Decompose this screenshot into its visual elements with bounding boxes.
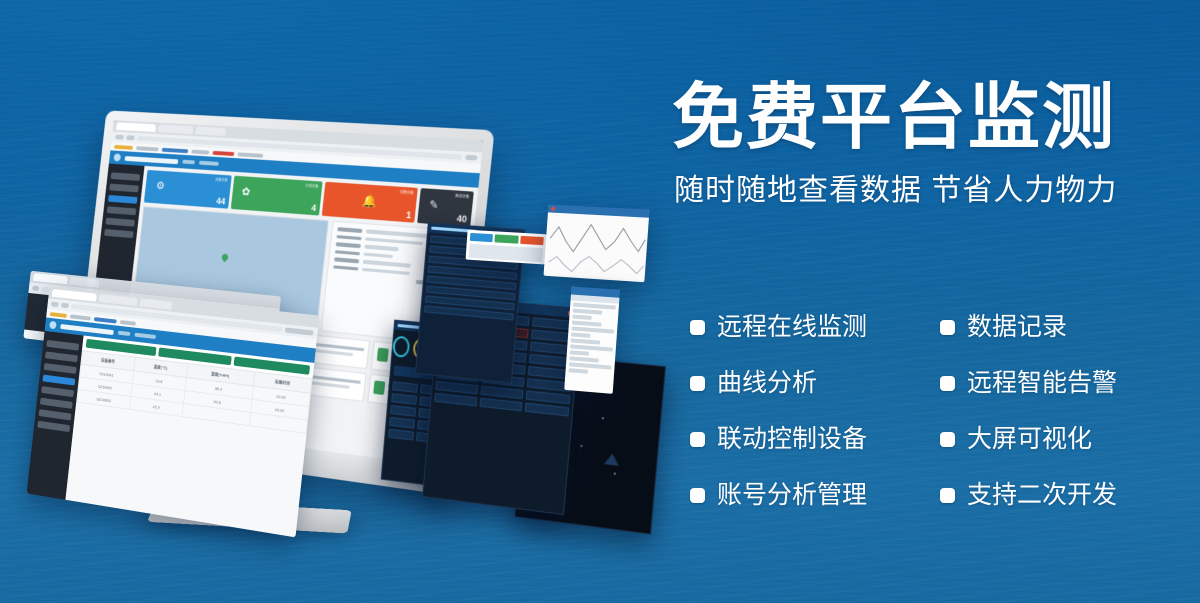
sidebar-item[interactable] (46, 340, 79, 351)
feature-label: 远程智能告警 (967, 368, 1117, 398)
bullet-icon (940, 320, 955, 335)
sidebar-item-active[interactable] (42, 375, 75, 386)
feature-item: 远程在线监测 (690, 312, 940, 342)
stat-card-caption: 在线设备 (305, 183, 319, 189)
bullet-icon (690, 432, 705, 447)
gear-icon: ⚙ (155, 179, 165, 192)
pen-icon: ✎ (429, 198, 440, 212)
sidebar-item[interactable] (40, 398, 73, 409)
series-temperature-line (549, 222, 646, 255)
map-popup-window[interactable] (466, 230, 547, 265)
stat-card-total[interactable]: ⚙ 设备总数 44 (144, 170, 232, 209)
series-humidity-line (548, 254, 644, 276)
cloud-logo-icon (49, 321, 57, 329)
tree-item[interactable] (571, 338, 600, 344)
bullet-icon (940, 376, 955, 391)
device-composition: ⚙ 设备总数 44 ✿ 在线设备 4 🔔 (0, 0, 700, 603)
promo-banner: ⚙ 设备总数 44 ✿ 在线设备 4 🔔 (0, 0, 1200, 603)
app-title (125, 156, 179, 164)
sidebar-item[interactable] (107, 206, 137, 215)
device-icon (376, 348, 388, 363)
tree-item[interactable] (571, 332, 591, 337)
feature-label: 大屏可视化 (967, 424, 1092, 454)
leaf-icon: ✿ (241, 185, 251, 198)
device-tree-window[interactable] (564, 287, 620, 394)
stat-card-caption: 告警设备 (400, 190, 414, 196)
sidebar-item[interactable] (111, 172, 141, 181)
stat-card-value: 40 (456, 213, 467, 224)
stat-card-alarm[interactable]: 🔔 告警设备 1 (322, 182, 418, 223)
stat-card-value: 1 (406, 210, 412, 221)
bullet-icon (940, 432, 955, 447)
feature-item: 支持二次开发 (940, 480, 1160, 510)
feature-item: 曲线分析 (690, 368, 940, 398)
feature-list: 远程在线监测 数据记录 曲线分析 远程智能告警 联动控制设备 大屏可视化 账号分… (690, 312, 1160, 510)
feature-label: 数据记录 (967, 312, 1067, 342)
feature-label: 账号分析管理 (717, 480, 867, 510)
bullet-icon (690, 376, 705, 391)
bell-icon: 🔔 (362, 193, 378, 208)
popup-chip[interactable] (470, 233, 493, 242)
browser-tab[interactable] (116, 122, 156, 132)
feature-label: 支持二次开发 (967, 480, 1117, 510)
page-title: 免费平台监测 (672, 78, 1172, 158)
sidebar-item[interactable] (105, 218, 135, 227)
sidebar-item[interactable] (39, 409, 72, 420)
tree-item[interactable] (570, 350, 590, 355)
sidebar-item-active[interactable] (108, 195, 138, 204)
tree-item[interactable] (573, 309, 602, 315)
sidebar-item[interactable] (109, 184, 139, 193)
sidebar-item[interactable] (37, 421, 70, 432)
popup-chip[interactable] (520, 236, 544, 245)
feature-item: 联动控制设备 (690, 424, 940, 454)
sidebar-item[interactable] (41, 386, 74, 397)
map-pin-icon[interactable] (220, 252, 229, 262)
bullet-icon (690, 488, 705, 503)
sidebar-item[interactable] (45, 351, 78, 362)
close-icon[interactable] (551, 207, 555, 211)
page-subtitle: 随时随地查看数据 节省人力物力 (674, 172, 1172, 210)
history-chart-window[interactable] (544, 204, 650, 282)
browser-tab[interactable] (195, 127, 226, 136)
feature-label: 联动控制设备 (717, 424, 867, 454)
tree-item[interactable] (572, 315, 592, 320)
feature-item: 数据记录 (940, 312, 1160, 342)
feature-label: 远程在线监测 (717, 312, 867, 342)
promo-copy: 免费平台监测 随时随地查看数据 节省人力物力 (672, 78, 1172, 210)
app-menu-item[interactable] (199, 161, 219, 166)
tree-item[interactable] (572, 321, 601, 327)
app-menu-item[interactable] (182, 160, 195, 165)
radar-marker-icon (604, 453, 620, 466)
browser-tab[interactable] (158, 125, 194, 135)
stat-card-caption: 离线设备 (455, 194, 470, 200)
stat-card-value: 4 (311, 203, 317, 213)
sidebar-item[interactable] (44, 363, 77, 374)
gauge-ring-temperature (392, 336, 410, 358)
feature-item: 远程智能告警 (940, 368, 1160, 398)
feature-label: 曲线分析 (717, 368, 817, 398)
chart-plot-area (544, 212, 649, 280)
popup-map-thumb[interactable] (469, 244, 543, 262)
bullet-icon (940, 488, 955, 503)
tree-item[interactable] (568, 368, 588, 374)
stat-card-online[interactable]: ✿ 在线设备 4 (231, 176, 323, 216)
device-icon (373, 380, 385, 395)
feature-item: 账号分析管理 (690, 480, 940, 510)
line-chart-svg (544, 212, 649, 280)
sidebar-item[interactable] (104, 229, 134, 238)
stat-card-caption: 设备总数 (215, 177, 228, 183)
data-table-window[interactable]: 设备编号 温度(℃) 湿度(%RH) 采集时间 SZ10001 23.6 55.… (27, 287, 320, 538)
popup-chip[interactable] (495, 234, 519, 243)
stat-card-value: 44 (216, 196, 226, 206)
app-menu-item[interactable] (134, 333, 156, 339)
stat-card-offline[interactable]: ✎ 离线设备 40 (417, 188, 474, 227)
cloud-logo-icon (113, 153, 121, 161)
app-menu-item[interactable] (118, 331, 131, 336)
feature-item: 大屏可视化 (940, 424, 1160, 454)
bullet-icon (690, 320, 705, 335)
